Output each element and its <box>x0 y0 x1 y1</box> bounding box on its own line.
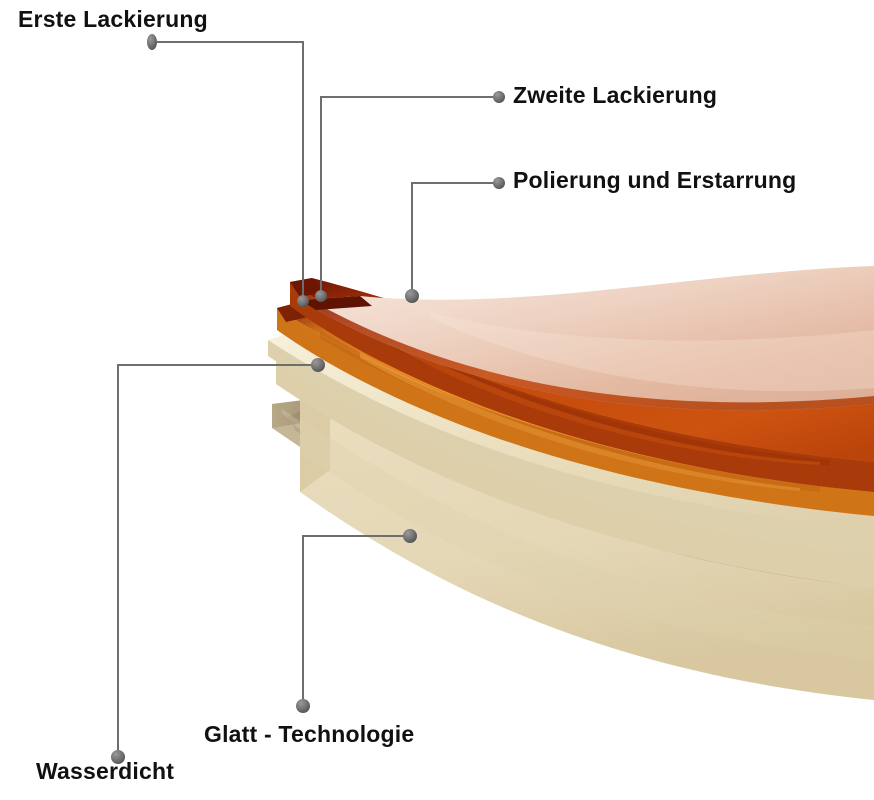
dot-erste-lackierung <box>147 34 157 50</box>
dot-erste-lackierung-target <box>297 295 309 307</box>
dot-polierung <box>493 177 505 189</box>
leader-zweite-lackierung <box>321 97 499 296</box>
dot-glatt-technologie-target <box>403 529 417 543</box>
leader-polierung <box>412 183 499 296</box>
callout-label-polierung-und-erstarrung: Polierung und Erstarrung <box>513 169 796 192</box>
dot-zweite-lackierung-target <box>315 290 327 302</box>
leader-glatt-technologie <box>303 536 410 706</box>
dot-zweite-lackierung <box>493 91 505 103</box>
callout-label-glatt-technologie: Glatt - Technologie <box>204 723 414 746</box>
dot-polierung-target <box>405 289 419 303</box>
callout-label-zweite-lackierung: Zweite Lackierung <box>513 84 717 107</box>
dot-glatt-technologie <box>296 699 310 713</box>
callout-label-erste-lackierung: Erste Lackierung <box>18 8 208 31</box>
leader-erste-lackierung <box>152 42 303 301</box>
diagram-canvas: Erste Lackierung Zweite Lackierung Polie… <box>0 0 874 800</box>
layer-stack-illustration <box>0 0 874 800</box>
dot-wasserdicht-target <box>311 358 325 372</box>
callout-label-wasserdicht: Wasserdicht <box>36 760 174 783</box>
